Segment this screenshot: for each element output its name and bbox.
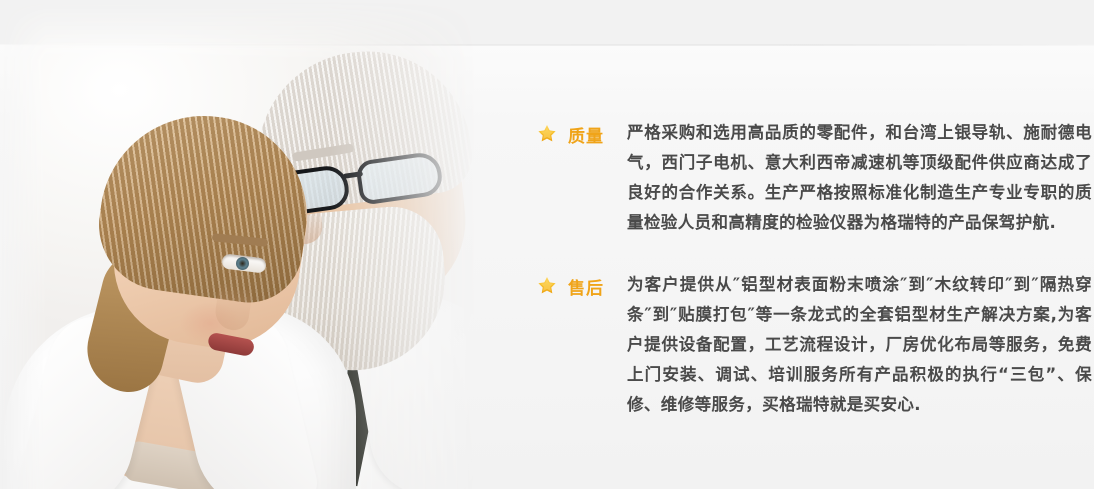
feature-marker-quality: 质量 xyxy=(536,118,627,146)
feature-marker-after-sales: 售后 xyxy=(536,270,627,298)
features-list: 质量 严格采购和选用高品质的零配件，和台湾上银导轨、施耐德电气，西门子电机、意大… xyxy=(536,118,1092,420)
young-woman-technician-figure xyxy=(40,120,370,489)
company-advantages-banner: 质量 严格采购和选用高品质的零配件，和台湾上银导轨、施耐德电气，西门子电机、意大… xyxy=(0,0,1094,489)
feature-body-quality: 严格采购和选用高品质的零配件，和台湾上银导轨、施耐德电气，西门子电机、意大利西帝… xyxy=(627,118,1092,238)
female-iris xyxy=(236,257,249,270)
feature-title-quality: 质量 xyxy=(568,129,604,146)
feature-body-after-sales: 为客户提供从″铝型材表面粉末喷涂″到″木纹转印″到″隔热穿条″到″贴膜打包″等一… xyxy=(627,270,1092,420)
feature-title-after-sales: 售后 xyxy=(568,281,604,298)
feature-item-quality: 质量 严格采购和选用高品质的零配件，和台湾上银导轨、施耐德电气，西门子电机、意大… xyxy=(536,118,1092,238)
lab-technicians-photo xyxy=(0,0,500,489)
star-icon xyxy=(536,123,558,145)
feature-item-after-sales: 售后 为客户提供从″铝型材表面粉末喷涂″到″木纹转印″到″隔热穿条″到″贴膜打包… xyxy=(536,270,1092,420)
star-icon xyxy=(536,275,558,297)
